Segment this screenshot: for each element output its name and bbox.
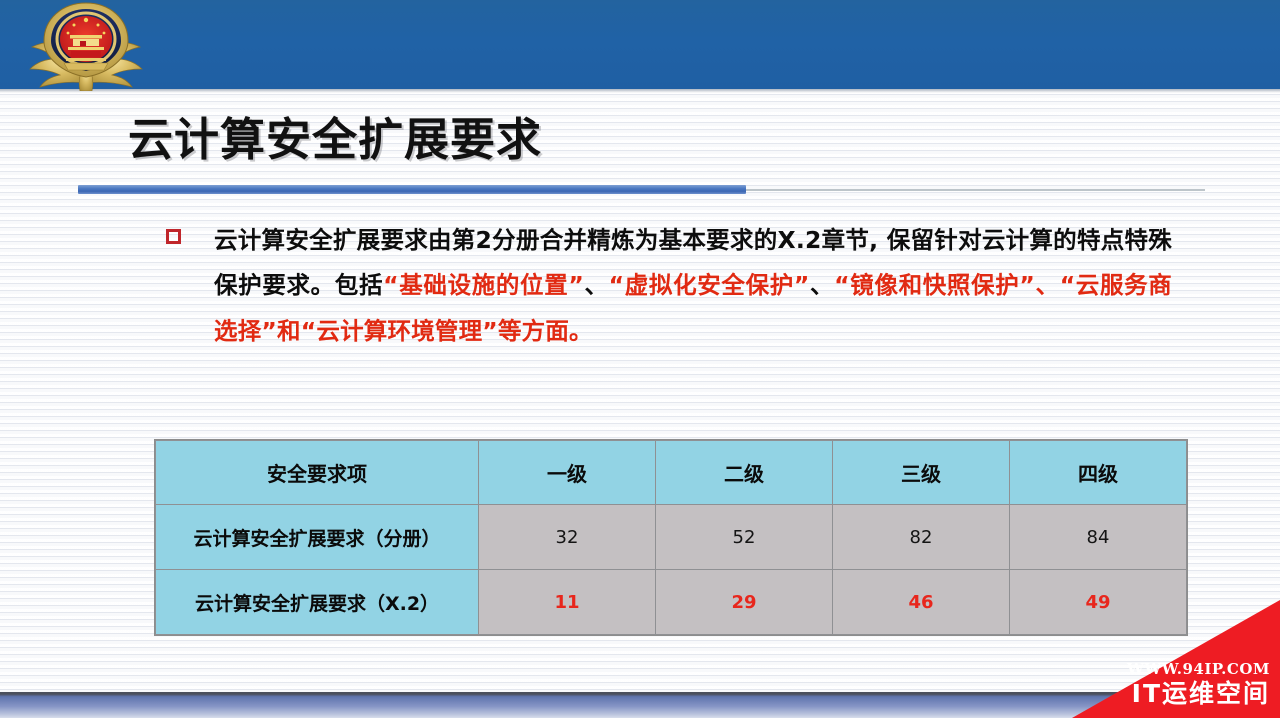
highlighted-term: 、 bbox=[1035, 271, 1060, 299]
table-cell-value: 82 bbox=[833, 505, 1010, 570]
table-row-label: 云计算安全扩展要求（分册） bbox=[156, 505, 479, 570]
body-text-run: 、 bbox=[584, 271, 609, 299]
footer-bar bbox=[0, 692, 1280, 718]
table-row: 云计算安全扩展要求（X.2） 11 29 46 49 bbox=[156, 570, 1187, 635]
requirements-table: 安全要求项 一级 二级 三级 四级 云计算安全扩展要求（分册） 32 52 82… bbox=[155, 440, 1187, 635]
watermark-url: WWW.94IP.COM bbox=[1127, 660, 1270, 678]
body-text-run: 、 bbox=[810, 271, 835, 299]
page-title: 云计算安全扩展要求 bbox=[128, 103, 542, 168]
table-header-row: 安全要求项 一级 二级 三级 四级 bbox=[156, 441, 1187, 505]
header-band bbox=[0, 0, 1280, 89]
table-cell-value: 49 bbox=[1010, 570, 1187, 635]
highlighted-term: “云计算环境管理” bbox=[301, 317, 498, 345]
header-shadow bbox=[0, 89, 1280, 93]
table-row-label: 云计算安全扩展要求（X.2） bbox=[156, 570, 479, 635]
highlighted-term: 和 bbox=[277, 317, 301, 345]
body-block: 云计算安全扩展要求由第2分册合并精炼为基本要求的X.2章节, 保留针对云计算的特… bbox=[162, 218, 1172, 354]
highlighted-term: “基础设施的位置” bbox=[383, 271, 584, 299]
table-row: 云计算安全扩展要求（分册） 32 52 82 84 bbox=[156, 505, 1187, 570]
china-police-emblem-icon bbox=[18, 1, 154, 91]
table-header-cell: 二级 bbox=[656, 441, 833, 505]
square-bullet-icon bbox=[166, 229, 181, 244]
table-header-cell: 安全要求项 bbox=[156, 441, 479, 505]
table-cell-value: 32 bbox=[479, 505, 656, 570]
highlighted-term: “虚拟化安全保护” bbox=[609, 271, 810, 299]
table-cell-value: 46 bbox=[833, 570, 1010, 635]
table-cell-value: 29 bbox=[656, 570, 833, 635]
highlighted-term: “镜像和快照保护” bbox=[834, 271, 1035, 299]
table-cell-value: 11 bbox=[479, 570, 656, 635]
highlighted-term: 等方面。 bbox=[498, 317, 593, 345]
title-divider-accent bbox=[78, 185, 746, 194]
body-paragraph: 云计算安全扩展要求由第2分册合并精炼为基本要求的X.2章节, 保留针对云计算的特… bbox=[214, 218, 1172, 354]
table-cell-value: 52 bbox=[656, 505, 833, 570]
slide-canvas: 云计算安全扩展要求 云计算安全扩展要求由第2分册合并精炼为基本要求的X.2章节,… bbox=[0, 0, 1280, 718]
table-cell-value: 84 bbox=[1010, 505, 1187, 570]
table-header-cell: 三级 bbox=[833, 441, 1010, 505]
table-header-cell: 一级 bbox=[479, 441, 656, 505]
table-header-cell: 四级 bbox=[1010, 441, 1187, 505]
